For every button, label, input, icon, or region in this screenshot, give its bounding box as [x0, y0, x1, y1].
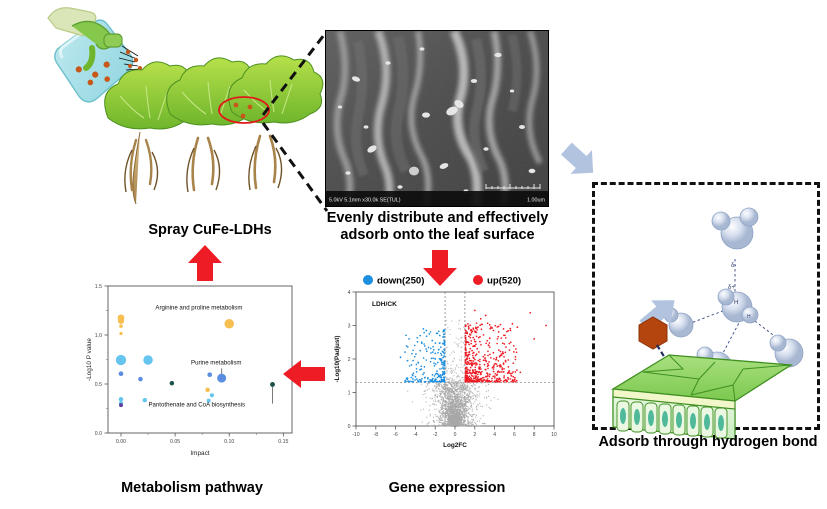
x-tick-label: 0.15	[278, 439, 288, 445]
scatter-point	[119, 324, 123, 328]
scatter-point	[118, 318, 124, 324]
legend-label-up: up(520)	[487, 276, 521, 287]
scatter-point	[210, 393, 214, 397]
sem-scalebar-right: 1.00um	[527, 198, 545, 204]
x-tick-label: 0.05	[170, 439, 180, 445]
x-tick-label: 0.00	[116, 439, 126, 445]
delta-positive-label: δ+	[728, 285, 735, 291]
x-tick-label: 0.10	[224, 439, 234, 445]
arrow-left-red	[283, 358, 325, 390]
scatter-point	[138, 377, 143, 382]
y-tick-label: 0.0	[95, 431, 102, 437]
gene-caption: Gene expression	[352, 480, 542, 497]
spray-caption: Spray CuFe-LDHs	[120, 222, 300, 239]
x-tick-label: -8	[374, 432, 379, 438]
scatter-point	[116, 355, 126, 365]
delta-negative-label: δ-	[731, 263, 736, 269]
x-tick-label: 2	[473, 432, 476, 438]
pathway-annotation: Pantothenate and CoA biosynthesis	[148, 402, 245, 409]
y-axis-label: -Log10 P value	[86, 338, 93, 381]
scatter-point	[119, 371, 124, 376]
hbond-panel: δ- δ+ H H	[592, 182, 820, 430]
x-tick-label: 10	[551, 432, 557, 438]
y-tick-label: 1.5	[95, 284, 102, 290]
scatter-point	[217, 374, 226, 383]
sem-image-panel: 5.0kV 5.1mm x30.0k SE(TUL) 1.00um	[325, 30, 549, 207]
y-tick-label: 4	[348, 290, 351, 296]
arrow-up-red	[186, 245, 224, 281]
pathway-annotation: Purine metabolism	[191, 359, 241, 366]
legend-label-down: down(250)	[377, 276, 424, 287]
sem-micrograph: 5.0kV 5.1mm x30.0k SE(TUL) 1.00um	[326, 31, 548, 206]
arrow-diagonal-blue	[556, 138, 602, 182]
sem-scalebar-left: 5.0kV 5.1mm x30.0k SE(TUL)	[329, 198, 401, 204]
legend-dot-down	[363, 275, 373, 285]
y-tick-label: 1	[348, 391, 351, 397]
hbond-illustration: δ- δ+ H H	[595, 185, 817, 427]
metabolism-pathway-chart: 0.00.51.01.50.000.050.100.15Impact-Log10…	[82, 278, 304, 468]
sem-caption-line2: adsorb onto the leaf surface	[320, 227, 555, 244]
hbond-caption: Adsorb through hydrogen bond	[592, 434, 824, 451]
scatter-point	[119, 397, 124, 402]
scatter-point	[205, 388, 210, 393]
scatter-point	[207, 372, 212, 377]
y-axis-label: -Log10(Padjust)	[334, 336, 341, 383]
scatter-point	[170, 381, 175, 386]
scatter-point	[119, 403, 123, 407]
pathway-annotation: Arginine and proline metabolism	[155, 305, 242, 312]
x-tick-label: -4	[413, 432, 418, 438]
x-tick-label: 0	[454, 432, 457, 438]
legend-dot-up	[473, 275, 483, 285]
x-tick-label: 4	[493, 432, 496, 438]
y-tick-label: 0.5	[95, 382, 102, 388]
sem-caption: Evenly distribute and effectively adsorb…	[320, 210, 555, 244]
scatter-point	[143, 398, 148, 403]
y-tick-label: 1.0	[95, 333, 102, 339]
gene-expression-chart: down(250)up(520)LDH/CK01234-10-8-6-4-202…	[330, 268, 562, 468]
group-label: LDH/CK	[372, 301, 397, 308]
x-tick-label: 8	[533, 432, 536, 438]
y-tick-label: 0	[348, 424, 351, 430]
x-tick-label: -6	[393, 432, 398, 438]
scatter-point	[119, 332, 122, 335]
scatter-point	[270, 382, 275, 387]
x-tick-label: 6	[513, 432, 516, 438]
x-axis-label: Impact	[190, 450, 209, 457]
x-tick-label: -10	[352, 432, 359, 438]
y-tick-label: 3	[348, 324, 351, 330]
scatter-point	[224, 319, 233, 328]
scatter-point	[143, 355, 152, 364]
x-tick-label: -2	[433, 432, 438, 438]
hydrogen-label-2: H	[747, 314, 751, 320]
x-axis-label: Log2FC	[443, 442, 467, 449]
hydrogen-label: H	[734, 300, 738, 306]
sem-caption-line1: Evenly distribute and effectively	[320, 210, 555, 227]
leaf-cross-section	[613, 355, 791, 439]
y-tick-label: 2	[348, 357, 351, 363]
metabolism-caption: Metabolism pathway	[92, 480, 292, 497]
